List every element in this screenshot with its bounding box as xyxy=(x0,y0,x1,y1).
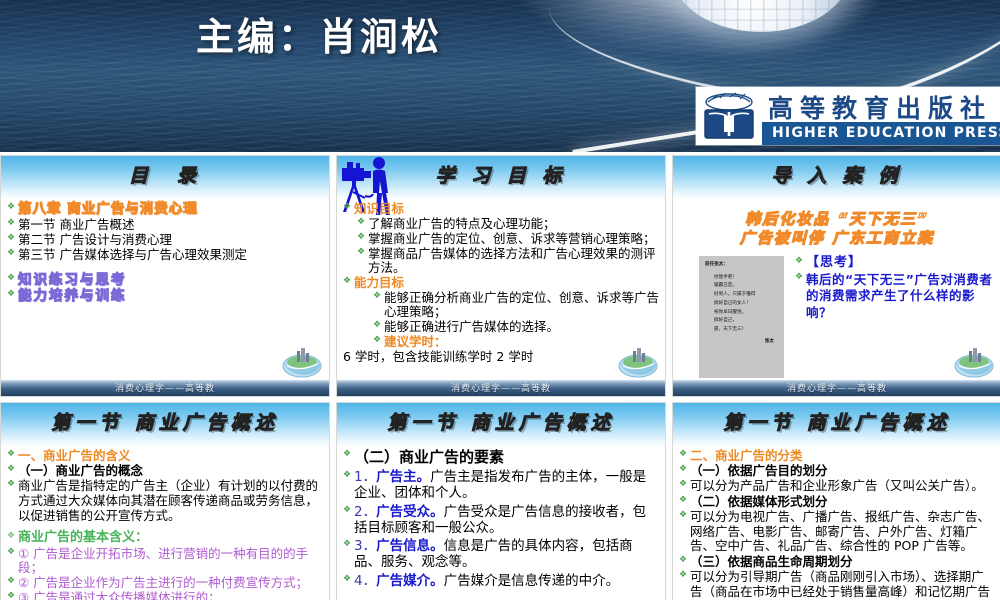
element-number: 3． xyxy=(354,538,376,554)
heading-level1: 一、商业广告的含义 xyxy=(18,449,323,463)
section-label: 第三节 广告媒体选择与广告心理效果测定 xyxy=(18,248,323,262)
extra-label: 知识练习与思考 xyxy=(18,273,323,288)
list-item: ❖ 第八章 商业广告与消费心理 xyxy=(7,202,323,217)
slide-contents[interactable]: 目 录 ❖ 第八章 商业广告与消费心理 ❖ 第一节 商业广告概述 ❖ 第二节 广… xyxy=(0,155,330,397)
element-term: 广告受众。 xyxy=(376,504,444,520)
slide-body: ❖ 二、商业广告的分类 ❖ （一）依据广告目的划分 ❖ 可以分为产品广告和企业形… xyxy=(673,447,1000,600)
classification-heading: （三）依据商品生命周期划分 xyxy=(690,555,995,569)
slide-grid: 目 录 ❖ 第八章 商业广告与消费心理 ❖ 第一节 商业广告概述 ❖ 第二节 广… xyxy=(0,155,1000,600)
diamond-bullet-icon: ❖ xyxy=(795,272,806,284)
diamond-bullet-icon: ❖ xyxy=(7,218,18,230)
extra-label: 能力培养与训练 xyxy=(18,289,323,304)
list-item: ❖ （三）依据商品生命周期划分 xyxy=(679,555,995,569)
objective-item: 了解商业广告的特点及心理功能； xyxy=(368,217,659,231)
publisher-logo: 高等教育出版社 HIGHER EDUCATION PRESS xyxy=(696,87,1000,145)
list-item: ❖ （二）商业广告的要素 xyxy=(343,449,659,466)
slide-body: ❖ 第八章 商业广告与消费心理 ❖ 第一节 商业广告概述 ❖ 第二节 广告设计与… xyxy=(1,200,329,380)
list-item: ❖ （一）商业广告的概念 xyxy=(7,464,323,478)
diamond-bullet-icon: ❖ xyxy=(679,555,690,567)
classification-heading: （二）依据媒体形式划分 xyxy=(690,495,995,509)
publisher-name-en: HIGHER EDUCATION PRESS xyxy=(772,125,1000,141)
letter-line: 愿，天下无三！ xyxy=(705,326,778,335)
diamond-bullet-icon: ❖ xyxy=(7,289,18,301)
classification-heading: （一）依据广告目的划分 xyxy=(690,464,995,478)
diamond-bullet-icon: ❖ xyxy=(7,202,18,214)
list-item: ❖ 能够正确分析商业广告的定位、创意、诉求等广告心理策略； xyxy=(373,291,659,319)
list-item: ❖ （一）依据广告目的划分 xyxy=(679,464,995,478)
diamond-bullet-icon: ❖ xyxy=(373,320,384,332)
heading-level2: （一）商业广告的概念 xyxy=(18,464,323,478)
chapter-title: 第八章 商业广告与消费心理 xyxy=(18,202,323,217)
paragraph-row: ❖ 可以分为电视广告、广播广告、报纸广告、杂志广告、网络广告、电影广告、邮寄广告… xyxy=(679,510,995,554)
list-item: ❖ 能力培养与训练 xyxy=(7,289,323,304)
slide-title: 第一节 商业广告概述 xyxy=(337,408,665,435)
diamond-bullet-icon: ❖ xyxy=(679,464,690,476)
slide-section1-a[interactable]: 第一节 商业广告概述 ❖ 一、商业广告的含义 ❖ （一）商业广告的概念 ❖ 商业… xyxy=(0,402,330,600)
diamond-bullet-icon: ❖ xyxy=(343,470,354,482)
footer-text: 消费心理学——高等教 xyxy=(673,381,1000,394)
element-number: 2． xyxy=(354,504,376,520)
heading-basic-meaning: 商业广告的基本含义： xyxy=(18,531,323,546)
letter-signature: 张太 xyxy=(705,338,778,347)
slide-objectives[interactable]: 学 习 目 标 ❖ 知识目标 ❖ 了解商业广告的特点及心理功能； ❖ 掌握商业广… xyxy=(336,155,666,397)
heading-level1: 二、商业广告的分类 xyxy=(690,449,995,463)
letter-recipient: 前任张太： xyxy=(705,261,778,270)
list-item: ❖ 掌握商品广告媒体的选择方法和广告心理效果的测评方法。 xyxy=(357,247,659,275)
letter-line: 搞好自己， xyxy=(705,317,778,326)
diamond-bullet-icon: ❖ xyxy=(343,574,354,586)
globe-city-icon xyxy=(953,344,995,378)
footer-text: 消费心理学——高等教 xyxy=(337,381,665,394)
slide-footer: 消费心理学——高等教 xyxy=(673,380,1000,396)
paragraph-row: ❖ 商业广告是指特定的广告主（企业）有计划的以付费的方式通过大众媒体向其潜在顾客… xyxy=(7,479,323,523)
letter-image: 前任张太： 你放手吧！ 输赢已定。 好男人，只属于懂得 搞好自己的女人！ 祝你早… xyxy=(699,256,784,378)
diamond-bullet-icon: ❖ xyxy=(679,479,690,491)
letter-line: 好男人，只属于懂得 xyxy=(705,291,778,300)
objective-group-heading: 能力目标 xyxy=(354,276,659,290)
diamond-bullet-icon: ❖ xyxy=(357,232,368,244)
list-item: ❖ （二）依据媒体形式划分 xyxy=(679,495,995,509)
slide-title: 学 习 目 标 xyxy=(337,161,665,188)
list-item: ❖ 2．广告受众。广告受众是广告信息的接收者，包括目标顾客和一般公众。 xyxy=(343,505,659,537)
presentation-slide-sorter: 主编：肖涧松 高等教育出版社 HIGHER EDUCATION PRESS 目 … xyxy=(0,0,1000,600)
list-item: ❖ 4．广告媒介。广告媒介是信息传递的中介。 xyxy=(343,574,659,590)
slide-body: ❖ 一、商业广告的含义 ❖ （一）商业广告的概念 ❖ 商业广告是指特定的广告主（… xyxy=(1,447,329,600)
meaning-point: ③ 广告是通过大众传播媒体进行的； xyxy=(18,591,323,600)
hours-text: 6 学时，包含技能训练学时 2 学时 xyxy=(343,350,659,364)
diamond-bullet-icon: ❖ xyxy=(7,479,18,491)
slide-footer: 消费心理学——高等教 xyxy=(1,380,329,396)
slide-footer: 消费心理学——高等教 xyxy=(337,380,665,396)
slide-body: ❖ 知识目标 ❖ 了解商业广告的特点及心理功能； ❖ 掌握商业广告的定位、创意、… xyxy=(337,200,665,380)
heading-level2: （二）商业广告的要素 xyxy=(354,449,659,466)
classification-text: 可以分为电视广告、广播广告、报纸广告、杂志广告、网络广告、电影广告、邮寄广告、户… xyxy=(690,510,995,554)
diamond-bullet-icon: ❖ xyxy=(679,449,690,461)
diamond-bullet-icon: ❖ xyxy=(7,449,18,461)
diamond-bullet-icon: ❖ xyxy=(357,247,368,259)
list-item: ❖ 二、商业广告的分类 xyxy=(679,449,995,463)
objective-item: 掌握商业广告的定位、创意、诉求等营销心理策略； xyxy=(368,232,659,246)
diamond-bullet-icon: ❖ xyxy=(343,449,354,461)
publisher-name-cn: 高等教育出版社 xyxy=(768,89,992,125)
slide-title: 第一节 商业广告概述 xyxy=(673,408,1000,435)
list-item: ❖ 第二节 广告设计与消费心理 xyxy=(7,233,323,247)
list-item: ❖ ② 广告是企业作为广告主进行的一种付费宣传方式； xyxy=(7,576,323,590)
list-item: ❖ 知识目标 xyxy=(343,202,659,216)
slide-case[interactable]: 导 入 案 例 韩后化妆品 “天下无三” 广告被叫停 广东工商立案 前任张太： … xyxy=(672,155,1000,397)
diamond-bullet-icon: ❖ xyxy=(7,547,18,559)
list-item: ❖ 知识练习与思考 xyxy=(7,273,323,288)
objective-item: 能够正确进行广告媒体的选择。 xyxy=(384,320,659,334)
slide-title: 目 录 xyxy=(1,161,329,188)
slide-body: ❖ （二）商业广告的要素 ❖ 1．广告主。广告主是指发布广告的主体，一般是企业、… xyxy=(337,447,665,600)
list-item: ❖ 掌握商业广告的定位、创意、诉求等营销心理策略； xyxy=(357,232,659,246)
diamond-bullet-icon: ❖ xyxy=(7,591,18,600)
diamond-bullet-icon: ❖ xyxy=(343,539,354,551)
slide-section1-b[interactable]: 第一节 商业广告概述 ❖ （二）商业广告的要素 ❖ 1．广告主。广告主是指发布广… xyxy=(336,402,666,600)
letter-line: 你放手吧！ xyxy=(705,274,778,283)
list-item: ❖ ③ 广告是通过大众传播媒体进行的； xyxy=(7,591,323,600)
objective-item: 掌握商品广告媒体的选择方法和广告心理效果的测评方法。 xyxy=(368,247,659,275)
element-number: 4． xyxy=(354,573,376,589)
case-headline-line2: 广告被叫停 广东工商立案 xyxy=(683,229,991,248)
diamond-bullet-icon: ❖ xyxy=(343,202,354,214)
title-banner: 主编：肖涧松 高等教育出版社 HIGHER EDUCATION PRESS xyxy=(0,0,1000,152)
diamond-bullet-icon: ❖ xyxy=(7,233,18,245)
slide-section1-c[interactable]: 第一节 商业广告概述 ❖ 二、商业广告的分类 ❖ （一）依据广告目的划分 ❖ 可… xyxy=(672,402,1000,600)
list-item: ❖ 第三节 广告媒体选择与广告心理效果测定 xyxy=(7,248,323,262)
diamond-bullet-icon: ❖ xyxy=(679,510,690,522)
diamond-bullet-icon: ❖ xyxy=(343,276,354,288)
hours-row: 6 学时，包含技能训练学时 2 学时 xyxy=(343,350,659,364)
list-item: ❖ 能够正确进行广告媒体的选择。 xyxy=(373,320,659,334)
list-item: ❖ ① 广告是企业开拓市场、进行营销的一种有目的的手段； xyxy=(7,547,323,575)
element-number: 1． xyxy=(354,469,376,485)
letter-line: 输赢已定。 xyxy=(705,282,778,291)
diamond-bullet-icon: ❖ xyxy=(7,576,18,588)
section-label: 第二节 广告设计与消费心理 xyxy=(18,233,323,247)
paragraph-row: ❖ 可以分为引导期广告（商品刚刚引入市场）、选择期广告（商品在市场中已经处于销售… xyxy=(679,570,995,600)
diamond-bullet-icon: ❖ xyxy=(7,248,18,260)
publisher-en-bar: HIGHER EDUCATION PRESS xyxy=(762,122,1000,145)
diamond-bullet-icon: ❖ xyxy=(373,335,384,347)
slide-title: 导 入 案 例 xyxy=(673,161,1000,188)
book-logo-icon xyxy=(700,90,758,142)
list-item: ❖ 一、商业广告的含义 xyxy=(7,449,323,463)
diamond-bullet-icon: ❖ xyxy=(357,217,368,229)
section-label: 第一节 商业广告概述 xyxy=(18,218,323,232)
element-term: 广告媒介。 xyxy=(376,573,444,589)
diamond-bullet-icon: ❖ xyxy=(343,505,354,517)
case-headline-line1: 韩后化妆品 “天下无三” xyxy=(683,210,991,229)
list-item: ❖ 商业广告的基本含义： xyxy=(7,531,323,546)
diamond-bullet-icon: ❖ xyxy=(7,273,18,285)
objective-group-heading: 知识目标 xyxy=(354,202,659,216)
diamond-bullet-icon: ❖ xyxy=(7,531,18,543)
think-block: ❖ 【思考】 ❖ 韩后的“天下无三”广告对消费者的消费需求产生了什么样的影响？ xyxy=(795,256,995,323)
list-item: ❖ 了解商业广告的特点及心理功能； xyxy=(357,217,659,231)
element-term: 广告信息。 xyxy=(376,538,444,554)
list-item: ❖ 第一节 商业广告概述 xyxy=(7,218,323,232)
slide-title: 第一节 商业广告概述 xyxy=(1,408,329,435)
footer-text: 消费心理学——高等教 xyxy=(1,381,329,394)
think-question: 韩后的“天下无三”广告对消费者的消费需求产生了什么样的影响？ xyxy=(806,272,995,323)
diamond-bullet-icon: ❖ xyxy=(7,464,18,476)
globe-city-icon xyxy=(281,344,323,378)
classification-text: 可以分为产品广告和企业形象广告（又叫公关广告）。 xyxy=(690,479,995,494)
diamond-bullet-icon: ❖ xyxy=(679,495,690,507)
meaning-point: ① 广告是企业开拓市场、进行营销的一种有目的的手段； xyxy=(18,547,323,575)
concept-paragraph: 商业广告是指特定的广告主（企业）有计划的以付费的方式通过大众媒体向其潜在顾客传递… xyxy=(18,479,323,523)
letter-line: 祝你早日醒悟。 xyxy=(705,309,778,318)
meaning-point: ② 广告是企业作为广告主进行的一种付费宣传方式； xyxy=(18,576,323,590)
element-term: 广告主。 xyxy=(376,469,430,485)
list-item: ❖ 3．广告信息。信息是广告的具体内容，包括商品、服务、观念等。 xyxy=(343,539,659,571)
classification-text: 可以分为引导期广告（商品刚刚引入市场）、选择期广告（商品在市场中已经处于销售量高… xyxy=(690,570,995,600)
think-label: 【思考】 xyxy=(806,256,995,271)
globe-city-icon xyxy=(617,344,659,378)
case-headline: 韩后化妆品 “天下无三” 广告被叫停 广东工商立案 xyxy=(683,210,991,248)
list-item: ❖ 能力目标 xyxy=(343,276,659,290)
element-desc: 广告媒介是信息传递的中介。 xyxy=(444,573,620,589)
list-item: ❖ 【思考】 xyxy=(795,256,995,271)
diamond-bullet-icon: ❖ xyxy=(679,570,690,582)
diamond-bullet-icon: ❖ xyxy=(373,291,384,303)
list-item: ❖ 韩后的“天下无三”广告对消费者的消费需求产生了什么样的影响？ xyxy=(795,272,995,323)
paragraph-row: ❖ 可以分为产品广告和企业形象广告（又叫公关广告）。 xyxy=(679,479,995,494)
list-item: ❖ 1．广告主。广告主是指发布广告的主体，一般是企业、团体和个人。 xyxy=(343,470,659,502)
diamond-bullet-icon: ❖ xyxy=(795,256,806,268)
letter-line: 搞好自己的女人！ xyxy=(705,300,778,309)
objective-item: 能够正确分析商业广告的定位、创意、诉求等广告心理策略； xyxy=(384,291,659,319)
editor-title: 主编：肖涧松 xyxy=(196,6,442,61)
